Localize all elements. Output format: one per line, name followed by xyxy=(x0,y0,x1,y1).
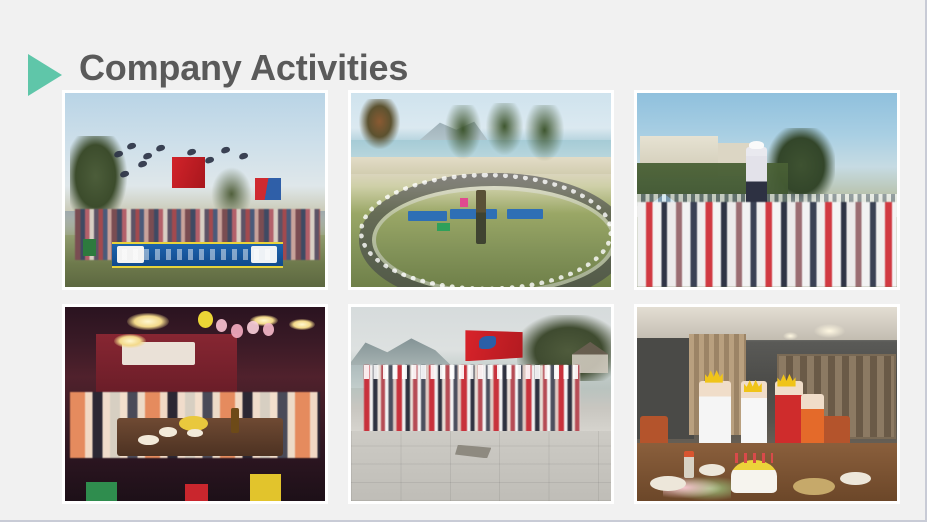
dish xyxy=(793,478,835,495)
ground-banner xyxy=(408,211,447,221)
gallery-photo-2[interactable] xyxy=(348,90,614,290)
pendant-lamp xyxy=(289,319,315,331)
tree-shape xyxy=(445,105,481,159)
pink-marker xyxy=(460,198,468,208)
tossed-hat xyxy=(220,146,230,154)
photo-canvas xyxy=(65,93,325,287)
crowd-shape xyxy=(637,202,897,287)
photo-canvas xyxy=(351,307,611,501)
gallery-photo-6[interactable] xyxy=(634,304,900,504)
mountain-shape xyxy=(351,334,455,369)
gallery-photo-3[interactable] xyxy=(634,90,900,290)
pendant-lamp xyxy=(114,334,145,348)
tossed-hat xyxy=(186,148,196,156)
triangle-right-icon xyxy=(28,54,62,96)
birthday-cake xyxy=(731,460,778,493)
ceiling-light xyxy=(783,332,799,340)
blue-flag xyxy=(255,178,281,199)
dish xyxy=(159,427,177,437)
tree-shape xyxy=(486,103,522,155)
yellow-chair xyxy=(250,474,281,501)
dish xyxy=(138,435,159,445)
tossed-hat xyxy=(238,152,248,160)
beer-bottle xyxy=(231,408,239,433)
green-marker xyxy=(437,223,450,231)
gallery-photo-4[interactable] xyxy=(62,304,328,504)
person-figure xyxy=(699,381,730,451)
slide-title-row: Company Activities xyxy=(28,40,408,96)
facilitator-figure xyxy=(476,190,486,244)
ceiling-shape xyxy=(637,307,897,340)
tossed-hat xyxy=(155,144,165,152)
tossed-hat xyxy=(142,152,152,160)
balloon-decor xyxy=(263,323,275,337)
red-flag xyxy=(172,157,206,188)
gallery-photo-1[interactable] xyxy=(62,90,328,290)
red-company-flag xyxy=(465,330,522,361)
tossed-hat xyxy=(127,142,137,150)
tree-shape xyxy=(359,99,401,149)
photo-canvas xyxy=(351,93,611,287)
ground-banner xyxy=(507,209,543,219)
ceiling-light xyxy=(814,324,845,338)
balloon-decor xyxy=(198,311,214,328)
red-chair xyxy=(185,484,208,501)
white-caps-row xyxy=(364,365,580,379)
drink-bottle xyxy=(684,451,694,478)
stone-plaza xyxy=(351,431,611,501)
green-flag xyxy=(83,239,96,256)
tossed-hat xyxy=(205,156,215,164)
green-chair xyxy=(86,482,117,501)
tossed-hat xyxy=(137,160,147,168)
tree-shape xyxy=(525,105,564,161)
photo-gallery-grid xyxy=(62,90,902,504)
banner-logo-left xyxy=(117,246,144,263)
ground-banner xyxy=(450,209,497,219)
beach-shape xyxy=(351,157,611,174)
company-banner xyxy=(112,242,284,267)
dish xyxy=(187,429,203,437)
gallery-photo-5[interactable] xyxy=(348,304,614,504)
photo-canvas xyxy=(637,93,897,287)
banner-logo-right xyxy=(251,246,277,263)
balloon-decor xyxy=(216,319,228,333)
dish xyxy=(699,464,725,476)
balloon-decor xyxy=(247,321,259,335)
balloon-decor xyxy=(231,324,243,338)
pendant-lamp xyxy=(127,313,169,330)
photo-canvas xyxy=(65,307,325,501)
person-figure xyxy=(775,381,804,451)
page-title: Company Activities xyxy=(79,50,408,86)
presentation-slide: Company Activities xyxy=(0,0,927,522)
photo-canvas xyxy=(637,307,897,501)
